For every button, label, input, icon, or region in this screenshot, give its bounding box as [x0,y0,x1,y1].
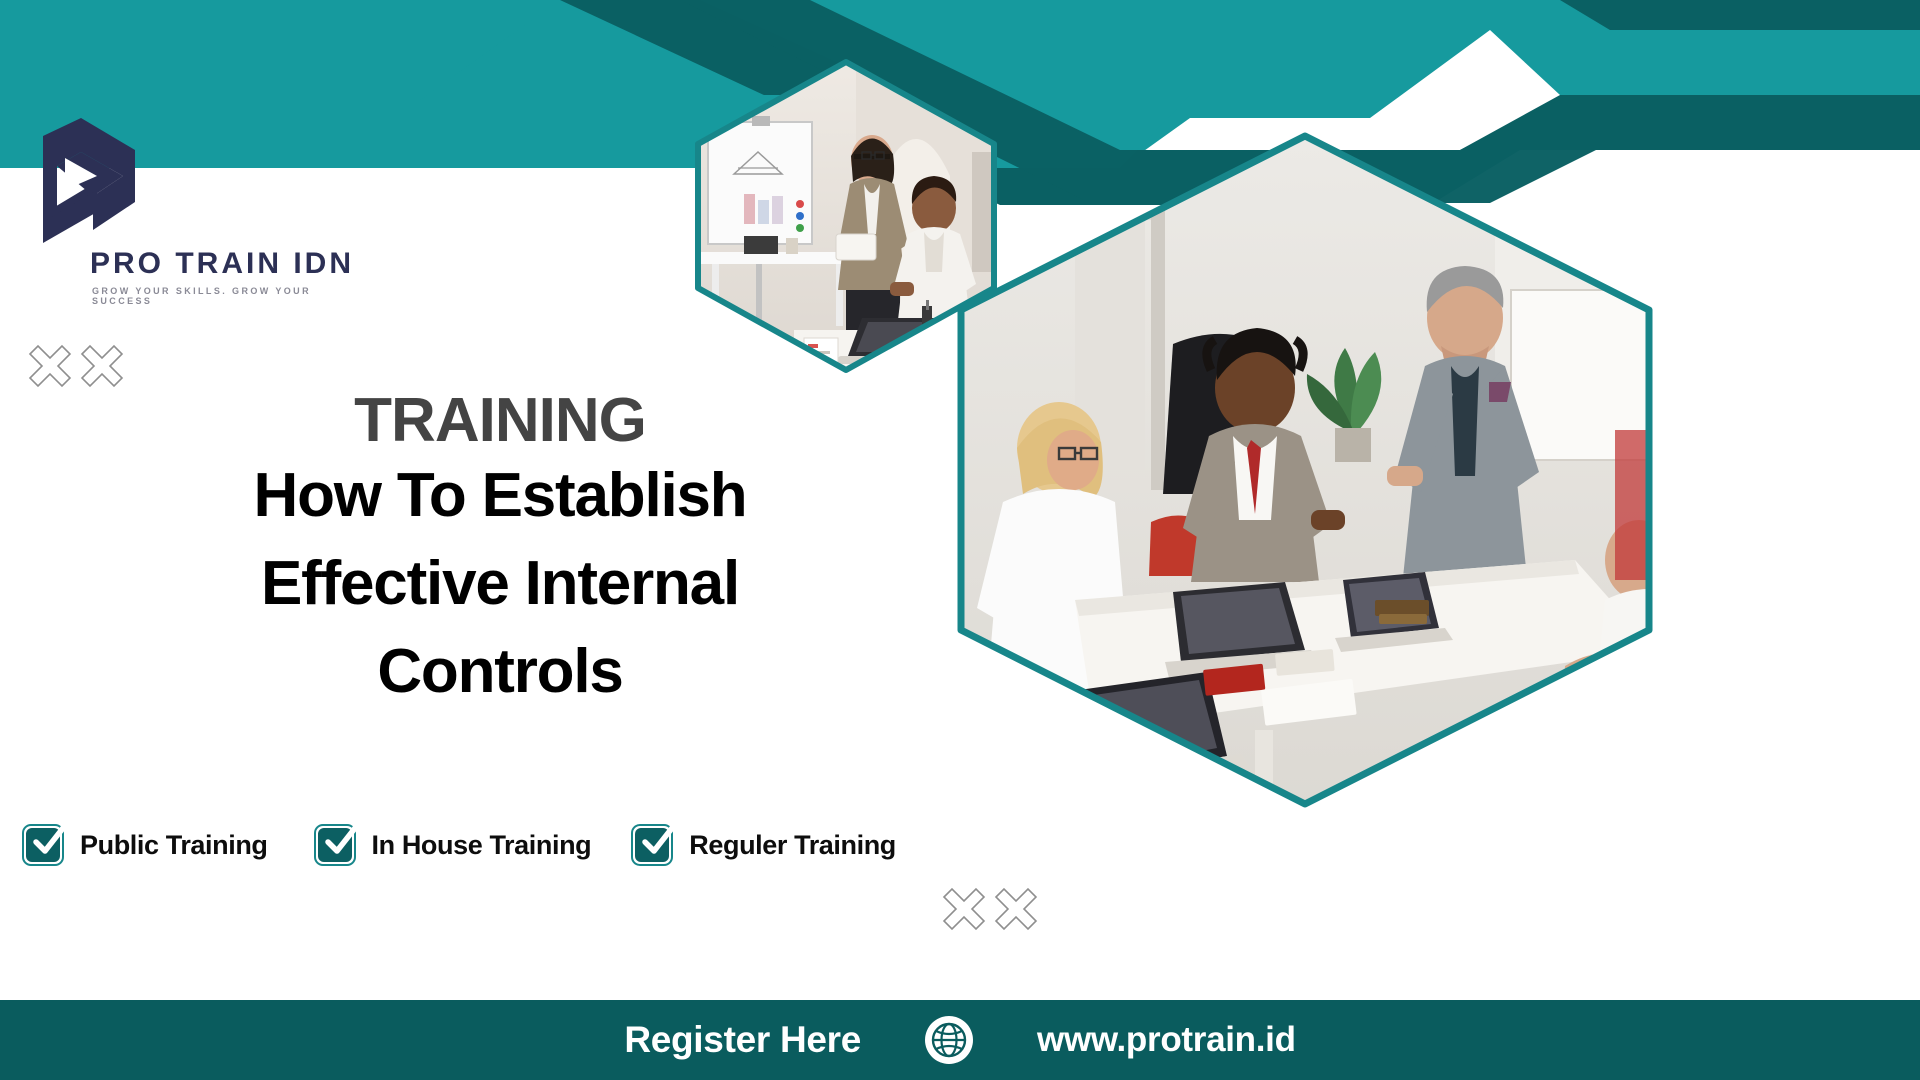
x-cross-outline-icon [940,885,1040,947]
x-decoration-left [26,342,126,409]
headline-line-3: Controls [180,628,820,716]
poster-canvas: PRO TRAIN IDN GROW YOUR SKILLS. GROW YOU… [0,0,1920,1080]
checkbox-reguler-training[interactable] [631,824,673,866]
headline-kicker: TRAINING [180,390,820,452]
headline-line-1: How To Establish [180,452,820,540]
training-type-list: Public Training In House Training Regule… [22,824,896,866]
check-icon [635,818,681,864]
headline-line-2: Effective Internal [180,540,820,628]
check-icon [26,818,72,864]
footer-bar: Register Here www.protrain.id [0,1000,1920,1080]
checkbox-public-training[interactable] [22,824,64,866]
training-type-item-inhouse[interactable]: In House Training [314,824,592,866]
training-type-label: Public Training [80,830,268,861]
headline-block: TRAINING How To Establish Effective Inte… [180,390,820,716]
brand-tagline: GROW YOUR SKILLS. GROW YOUR SUCCESS [92,286,370,306]
x-cross-outline-icon [26,342,126,404]
protrain-arrow-logo-icon [35,118,143,243]
brand-logo: PRO TRAIN IDN GROW YOUR SKILLS. GROW YOU… [30,118,370,306]
register-cta[interactable]: Register Here [624,1019,861,1061]
check-icon [318,818,364,864]
website-url[interactable]: www.protrain.id [1037,1020,1296,1060]
training-type-label: Reguler Training [689,830,896,861]
checkbox-in-house-training[interactable] [314,824,356,866]
globe-icon [923,1014,975,1066]
training-type-item-reguler[interactable]: Reguler Training [631,824,896,866]
x-decoration-bottom [940,885,1040,952]
training-type-label: In House Training [372,830,592,861]
training-type-item-public[interactable]: Public Training [22,824,268,866]
brand-wordmark: PRO TRAIN IDN [90,247,370,281]
office-team-meeting-photo [955,130,1655,810]
